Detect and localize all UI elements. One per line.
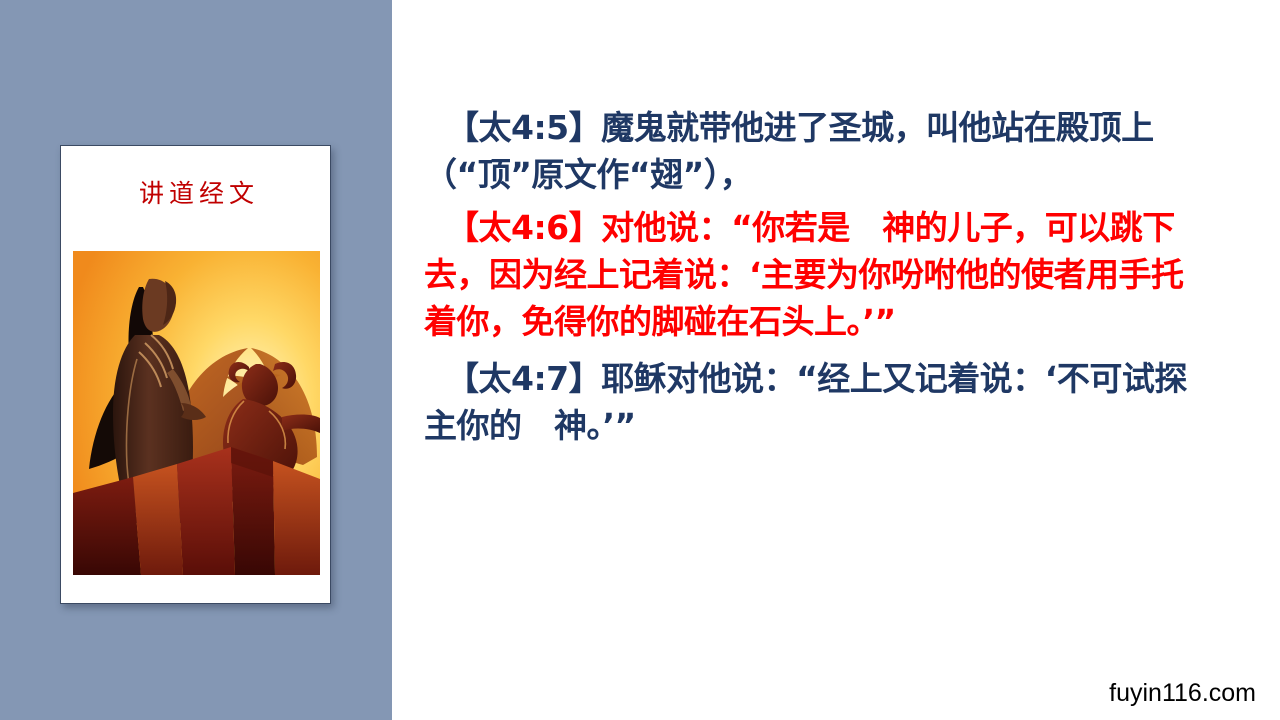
scripture-card: 讲道经文 xyxy=(60,145,331,604)
presentation-slide: 讲道经文 xyxy=(0,0,1280,720)
verse-matthew-4-6: 【太4:6】对他说：“你若是 神的儿子，可以跳下去，因为经上记着说：‘主要为你吩… xyxy=(424,204,1214,345)
verse-matthew-4-7: 【太4:7】耶稣对他说：“经上又记着说：‘不可试探主你的 神。’” xyxy=(424,355,1214,449)
scripture-text-block: 【太4:5】魔鬼就带他进了圣城，叫他站在殿顶上（“顶”原文作“翅”）， 【太4:… xyxy=(424,104,1214,453)
site-watermark: fuyin116.com xyxy=(1109,679,1256,708)
card-title: 讲道经文 xyxy=(61,174,332,210)
verse-matthew-4-5: 【太4:5】魔鬼就带他进了圣城，叫他站在殿顶上（“顶”原文作“翅”）， xyxy=(424,104,1214,198)
jesus-temptation-illustration xyxy=(73,251,320,575)
